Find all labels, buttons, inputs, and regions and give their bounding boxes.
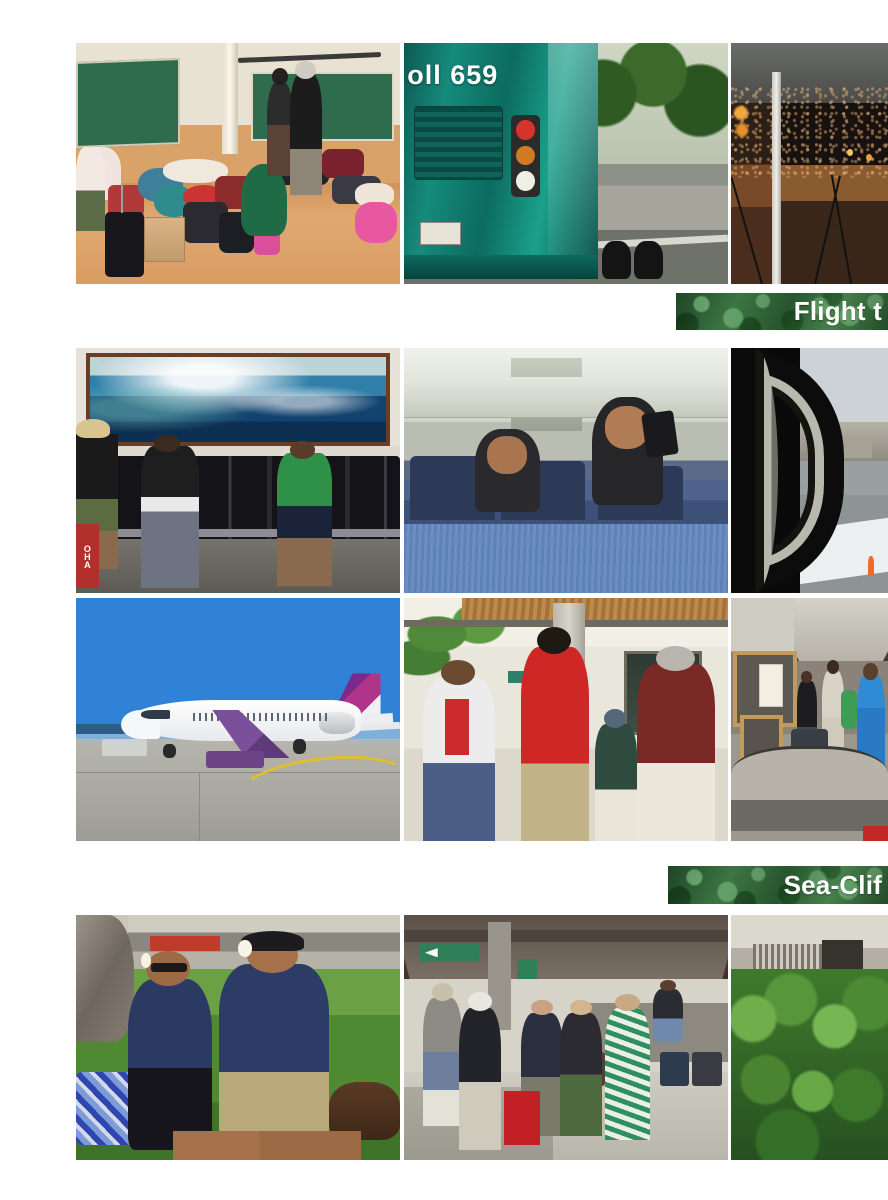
person-on-bench (560, 1013, 602, 1136)
photo-covered-bench[interactable]: Group of travelers waiting with bags und… (404, 915, 728, 1160)
tail-light-cluster (511, 115, 540, 197)
engine-vent-panel (414, 106, 503, 180)
sunglasses (151, 963, 186, 972)
green-bag (841, 690, 857, 729)
rain-droplets (731, 86, 888, 178)
photo-green-bus[interactable]: oll 659 Rear of a green tour bus marked … (404, 43, 728, 284)
directional-sign (420, 944, 478, 961)
flight-banner: Flight t (676, 293, 888, 330)
windshield-pillar (772, 72, 781, 284)
passenger-left (475, 429, 540, 512)
bus-scene: oll 659 (404, 43, 728, 284)
bus-number-text: oll 659 (407, 60, 608, 91)
chalkboard-left (76, 58, 180, 148)
man-in-aloha-shirt (637, 664, 715, 841)
hedge-scene (731, 915, 888, 1160)
person-in-green-shirt (277, 453, 332, 585)
handheld-device (641, 410, 679, 458)
lounge-carpet (76, 539, 400, 593)
roof-truss (794, 598, 888, 661)
traffic-cone (868, 556, 874, 576)
photo-airport-lounge[interactable]: OHA Travelers resting on black gate seat… (76, 348, 400, 593)
cardboard-box (144, 217, 185, 262)
baggage-cart (102, 739, 147, 756)
photo-women-grass[interactable]: Two women with flowers in their hair sit… (76, 915, 400, 1160)
classroom-scene (76, 43, 400, 284)
oha-bag-text: OHA (76, 524, 99, 588)
tarmac-seam (199, 773, 200, 841)
aircraft-cabin-scene (404, 348, 728, 593)
woman-with-cap (219, 964, 329, 1150)
photo-hawaiian-jet[interactable]: Hawaiian Airlines jet on the tarmac with… (76, 598, 400, 841)
woman-in-print-dress (605, 1008, 650, 1140)
man-standing (423, 998, 462, 1125)
airport-lounge-scene: OHA (76, 348, 400, 593)
woman-with-shoulder-bag (423, 678, 494, 841)
baggage-claim-scene (731, 598, 888, 841)
rainy-windshield-scene (731, 43, 888, 284)
man-in-red-shirt (521, 647, 589, 841)
stair-truck-base (206, 751, 264, 768)
seat-support-bar (76, 529, 400, 536)
red-sign (863, 826, 888, 841)
outstretched-legs (173, 1131, 361, 1160)
license-plate (420, 222, 461, 246)
photo-baggage-claim[interactable]: Open-air baggage claim carousel with not… (731, 598, 888, 841)
person-sitting-on-ledge (653, 989, 682, 1043)
covered-terminal-scene (404, 915, 728, 1160)
overhead-bins (404, 377, 728, 417)
seacliff-banner: Sea-Clif (668, 866, 888, 904)
woman-standing (459, 1008, 501, 1150)
green-hedge (731, 969, 888, 1160)
plane-window-scene (731, 348, 888, 593)
rolling-suitcase (105, 212, 144, 277)
photo-plane-window[interactable]: View out an oval airplane window onto th… (731, 348, 888, 593)
rear-bumper (404, 255, 598, 279)
photo-classroom-luggage[interactable]: Classroom staging area with green chalkb… (76, 43, 400, 284)
cabin-wall-shadow (731, 348, 778, 593)
red-shopping-bag (504, 1091, 540, 1145)
bus-wheel (602, 241, 631, 280)
woman-with-sunglasses (128, 979, 212, 1151)
person-leaning-forward (141, 446, 199, 588)
luggage (692, 1052, 721, 1086)
luggage-pile-item (355, 202, 397, 243)
cockpit-windows (141, 710, 170, 720)
person-elder-man (290, 74, 322, 195)
ocean-painting-art (90, 357, 387, 442)
person-seated (76, 147, 105, 231)
exit-sign (517, 959, 536, 979)
photo-cabin-seats[interactable]: Two passengers in a narrow-body aircraft… (404, 348, 728, 593)
luggage (660, 1052, 689, 1086)
photo-rainy-windshield[interactable]: Night view through a rain-covered bus wi… (731, 43, 888, 284)
tree-trunk (76, 915, 134, 1042)
roof-beam (404, 930, 728, 942)
cabin-window-row (193, 713, 329, 720)
person-seated-background (595, 724, 637, 841)
hawaiian-jet-scene (76, 598, 400, 841)
flight-banner-label: Flight t (794, 296, 882, 327)
landing-gear (293, 739, 306, 754)
lawn-scene (76, 915, 400, 1160)
street-lamp-glow (736, 123, 749, 137)
wall-pillar (222, 43, 238, 154)
baggage-carousel (731, 746, 888, 832)
photo-terminal-group[interactable]: Three travelers standing under an open-a… (404, 598, 728, 841)
luggage-pile-item (322, 149, 364, 178)
denim-foreground (404, 524, 728, 593)
hair-flower (238, 940, 251, 957)
seacliff-banner-label: Sea-Clif (784, 870, 882, 901)
landing-gear (163, 744, 176, 759)
ocean-painting-frame (86, 353, 391, 446)
open-air-terminal-scene (404, 598, 728, 841)
photo-hedge-terminal[interactable]: Green hedge in front of a low terminal b… (731, 915, 888, 1160)
bus-wheel (634, 241, 663, 280)
slide-canvas: Classroom staging area with green chalkb… (0, 0, 888, 1200)
posted-notice (759, 664, 783, 707)
ceiling-panel (731, 598, 800, 651)
